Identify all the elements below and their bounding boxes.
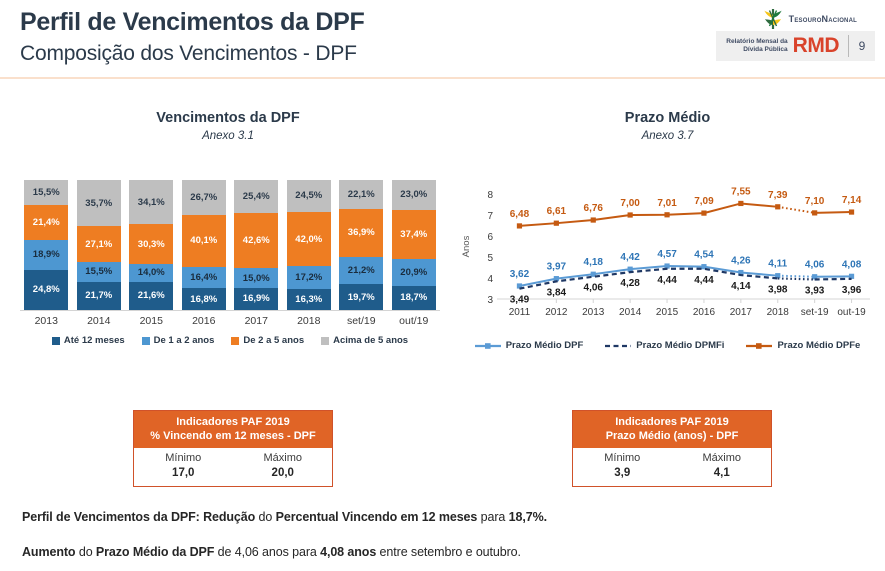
bar-x-tick-2014: 2014 xyxy=(73,315,125,327)
line-series-path xyxy=(815,212,852,213)
bar-chart-legend: Até 12 mesesDe 1 a 2 anosDe 2 a 5 anosAc… xyxy=(20,335,440,346)
bar-stack-out-19: 23,0%37,4%20,9%18,7% xyxy=(392,180,436,310)
legend-line-icon xyxy=(475,341,501,351)
line-data-label: 6,48 xyxy=(510,209,530,220)
bar-legend-item[interactable]: Acima de 5 anos xyxy=(321,335,408,346)
bar-stack-2016: 26,7%40,1%16,4%16,8% xyxy=(182,180,226,310)
bar-segment: 16,8% xyxy=(182,288,226,310)
line-data-label: 4,14 xyxy=(731,281,751,292)
footnote2-bold-c: Prazo Médio da DPF xyxy=(96,545,214,559)
line-series-path xyxy=(815,279,852,280)
line-data-label: 7,10 xyxy=(805,196,825,207)
indicator-min-cell: Mínimo 3,9 xyxy=(573,448,672,486)
line-data-label: 4,44 xyxy=(657,275,677,286)
footnote1-bold-c: Percentual Vincendo em 12 meses xyxy=(276,510,478,524)
indicator-max-label: Máximo xyxy=(234,451,333,466)
indicator-min-label: Mínimo xyxy=(134,451,233,466)
indicator-table-body: Mínimo 3,9 Máximo 4,1 xyxy=(573,448,771,486)
bar-legend-item[interactable]: De 2 a 5 anos xyxy=(231,335,304,346)
bar-segment: 15,5% xyxy=(24,180,68,205)
indicator-table-header: Indicadores PAF 2019 Prazo Médio (anos) … xyxy=(573,411,771,448)
indicator-header-line1: Indicadores PAF 2019 xyxy=(136,415,330,429)
line-data-label: 7,09 xyxy=(694,196,714,207)
line-y-axis-label: Anos xyxy=(461,235,472,257)
footnote1-bold-a: Perfil de Vencimentos da DPF: Redução xyxy=(22,510,255,524)
line-chart-legend: Prazo Médio DPFPrazo Médio DPMFiPrazo Mé… xyxy=(455,340,880,351)
footnote-line-1: Perfil de Vencimentos da DPF: Redução do… xyxy=(22,510,547,524)
bar-legend-label: Até 12 meses xyxy=(64,335,125,346)
line-data-marker xyxy=(664,212,669,217)
line-y-tick: 3 xyxy=(487,295,493,306)
bar-segment: 16,3% xyxy=(287,289,331,310)
line-data-marker xyxy=(517,223,522,228)
line-x-tick-2012: 2012 xyxy=(545,307,568,318)
line-data-label: 6,61 xyxy=(547,206,567,217)
bar-segment: 16,4% xyxy=(182,267,226,288)
line-data-label: 4,06 xyxy=(584,283,604,294)
footnote1-text-b: do xyxy=(255,510,275,524)
bar-segment: 22,1% xyxy=(339,180,383,209)
bar-legend-item[interactable]: Até 12 meses xyxy=(52,335,125,346)
line-data-marker xyxy=(849,209,854,214)
line-series-path xyxy=(778,276,815,277)
indicator-max-cell: Máximo 20,0 xyxy=(233,448,333,486)
line-data-marker xyxy=(812,210,817,215)
right-chart-subtitle: Anexo 3.7 xyxy=(455,130,880,142)
bar-chart-x-tick-labels: 201320142015201620172018set/19out/19 xyxy=(20,313,440,331)
legend-swatch-icon xyxy=(321,337,329,345)
line-data-marker xyxy=(775,204,780,209)
line-y-tick: 6 xyxy=(487,232,493,243)
bar-stack-set-19: 22,1%36,9%21,2%19,7% xyxy=(339,180,383,310)
indicator-min-value: 17,0 xyxy=(134,466,233,481)
bar-segment: 15,5% xyxy=(77,262,121,282)
bar-segment: 30,3% xyxy=(129,224,173,263)
line-legend-label: Prazo Médio DPMFi xyxy=(636,340,724,351)
tesouro-emblem-icon xyxy=(760,6,786,32)
bar-x-tick-set-19: set/19 xyxy=(335,315,387,327)
header-divider-rule xyxy=(0,77,885,79)
rmd-badge: Relatório Mensal da Dívida Pública RMD 9 xyxy=(716,31,875,61)
line-series-path xyxy=(778,207,815,213)
bar-segment: 21,2% xyxy=(339,257,383,285)
line-data-label: 4,28 xyxy=(620,278,640,289)
bar-x-tick-2016: 2016 xyxy=(178,315,230,327)
prazo-medio-line-chart: 345678Anos201120122013201420152016201720… xyxy=(455,180,880,365)
line-data-marker xyxy=(738,201,743,206)
rmd-wordmark: RMD xyxy=(793,34,848,58)
bar-segment: 24,5% xyxy=(287,180,331,212)
bar-stack-2014: 35,7%27,1%15,5%21,7% xyxy=(77,180,121,310)
line-data-marker xyxy=(701,211,706,216)
bar-segment: 36,9% xyxy=(339,209,383,257)
line-x-tick-2015: 2015 xyxy=(656,307,679,318)
line-data-label: 3,97 xyxy=(547,262,567,273)
line-legend-label: Prazo Médio DPFe xyxy=(777,340,860,351)
line-data-label: 4,44 xyxy=(694,275,714,286)
bar-x-tick-2018: 2018 xyxy=(283,315,335,327)
line-legend-item[interactable]: Prazo Médio DPFe xyxy=(746,340,860,351)
line-data-label: 4,08 xyxy=(842,259,862,270)
line-data-label: 4,18 xyxy=(584,257,604,268)
footnote2-bold-a: Aumento xyxy=(22,545,75,559)
legend-swatch-icon xyxy=(231,337,239,345)
bar-stack-2015: 34,1%30,3%14,0%21,6% xyxy=(129,180,173,310)
bar-segment: 35,7% xyxy=(77,180,121,226)
line-x-tick-2018: 2018 xyxy=(767,307,790,318)
footnote2-text-f: entre setembro e outubro. xyxy=(376,545,521,559)
bar-segment: 21,7% xyxy=(77,282,121,310)
bar-legend-label: De 2 a 5 anos xyxy=(243,335,304,346)
footnote1-bold-e: 18,7%. xyxy=(509,510,547,524)
bar-segment: 37,4% xyxy=(392,210,436,259)
line-series-path xyxy=(778,278,815,279)
bar-x-tick-2015: 2015 xyxy=(125,315,177,327)
bar-segment: 20,9% xyxy=(392,259,436,286)
line-data-label: 7,00 xyxy=(620,198,640,209)
rmd-caption-line1: Relatório Mensal da xyxy=(726,38,787,46)
legend-swatch-icon xyxy=(52,337,60,345)
line-data-label: 3,84 xyxy=(547,287,567,298)
line-y-tick: 5 xyxy=(487,253,493,264)
footnote-line-2: Aumento do Prazo Médio da DPF de 4,06 an… xyxy=(22,545,521,559)
page-header: Perfil de Vencimentos da DPF Composição … xyxy=(0,0,885,78)
indicator-table-body: Mínimo 17,0 Máximo 20,0 xyxy=(134,448,332,486)
bar-segment: 17,2% xyxy=(287,266,331,288)
bar-segment: 42,0% xyxy=(287,212,331,267)
line-y-tick: 4 xyxy=(487,274,493,285)
bar-segment: 40,1% xyxy=(182,215,226,267)
legend-line-icon xyxy=(746,341,772,351)
line-data-label: 4,54 xyxy=(694,250,714,261)
line-data-label: 3,49 xyxy=(510,295,530,306)
line-legend-label: Prazo Médio DPF xyxy=(506,340,584,351)
bar-x-tick-2017: 2017 xyxy=(230,315,282,327)
indicator-max-cell: Máximo 4,1 xyxy=(672,448,772,486)
bar-segment: 14,0% xyxy=(129,264,173,282)
indicator-table-prazo-medio: Indicadores PAF 2019 Prazo Médio (anos) … xyxy=(572,410,772,487)
bar-legend-item[interactable]: De 1 a 2 anos xyxy=(142,335,215,346)
bar-stack-2017: 25,4%42,6%15,0%16,9% xyxy=(234,180,278,310)
bar-segment: 23,0% xyxy=(392,180,436,210)
line-data-label: 3,62 xyxy=(510,269,530,280)
line-data-label: 3,96 xyxy=(842,285,862,296)
line-data-marker xyxy=(628,212,633,217)
line-data-label: 4,06 xyxy=(805,260,825,271)
indicator-table-percent-vincendo: Indicadores PAF 2019 % Vincendo em 12 me… xyxy=(133,410,333,487)
bar-segment: 18,9% xyxy=(24,240,68,270)
line-x-tick-set-19: set-19 xyxy=(801,307,829,318)
line-data-marker xyxy=(591,217,596,222)
bar-segment: 21,4% xyxy=(24,205,68,240)
bar-stack-2018: 24,5%42,0%17,2%16,3% xyxy=(287,180,331,310)
tesouro-nacional-logo: TesouroNacional xyxy=(760,6,857,32)
line-data-label: 3,93 xyxy=(805,285,825,296)
line-data-label: 4,26 xyxy=(731,256,751,267)
line-y-tick: 8 xyxy=(487,190,493,201)
indicator-table-header: Indicadores PAF 2019 % Vincendo em 12 me… xyxy=(134,411,332,448)
vencimentos-dpf-bar-chart: 15,5%21,4%18,9%24,8%35,7%27,1%15,5%21,7%… xyxy=(8,180,448,365)
brand-wordmark: TesouroNacional xyxy=(789,14,857,24)
line-legend-item[interactable]: Prazo Médio DPF xyxy=(475,340,584,351)
line-x-tick-2011: 2011 xyxy=(509,307,531,318)
bar-segment: 18,7% xyxy=(392,286,436,310)
legend-swatch-icon xyxy=(142,337,150,345)
bar-segment: 34,1% xyxy=(129,180,173,224)
bar-segment: 25,4% xyxy=(234,180,278,213)
indicator-max-value: 4,1 xyxy=(673,466,772,481)
bar-x-tick-2013: 2013 xyxy=(20,315,72,327)
right-chart-title: Prazo Médio xyxy=(455,110,880,126)
bar-legend-label: De 1 a 2 anos xyxy=(154,335,215,346)
footnote1-text-d: para xyxy=(477,510,508,524)
indicator-header-line2: Prazo Médio (anos) - DPF xyxy=(575,429,769,443)
indicator-min-label: Mínimo xyxy=(573,451,672,466)
indicator-min-cell: Mínimo 17,0 xyxy=(134,448,233,486)
line-plot-area: 345678Anos201120122013201420152016201720… xyxy=(455,180,880,335)
bar-segment: 16,9% xyxy=(234,288,278,310)
line-x-tick-out-19: out-19 xyxy=(837,307,866,318)
bar-chart-x-axis xyxy=(20,310,440,311)
bar-legend-label: Acima de 5 anos xyxy=(333,335,408,346)
indicator-min-value: 3,9 xyxy=(573,466,672,481)
line-data-label: 7,01 xyxy=(657,198,677,209)
page-subtitle: Composição dos Vencimentos - DPF xyxy=(20,42,357,66)
bar-segment: 26,7% xyxy=(182,180,226,215)
bar-x-tick-out-19: out/19 xyxy=(388,315,440,327)
line-x-tick-2016: 2016 xyxy=(693,307,716,318)
line-data-label: 4,42 xyxy=(620,252,640,263)
rmd-caption-line2: Dívida Pública xyxy=(726,46,787,54)
rmd-badge-caption: Relatório Mensal da Dívida Pública xyxy=(726,38,792,54)
line-data-label: 4,57 xyxy=(657,249,677,260)
page-title: Perfil de Vencimentos da DPF xyxy=(20,8,364,37)
line-legend-item[interactable]: Prazo Médio DPMFi xyxy=(605,340,724,351)
indicator-header-line2: % Vincendo em 12 meses - DPF xyxy=(136,429,330,443)
bar-segment: 42,6% xyxy=(234,213,278,268)
line-y-tick: 7 xyxy=(487,211,493,222)
line-data-marker xyxy=(554,221,559,226)
line-data-label: 6,76 xyxy=(584,203,604,214)
line-data-label: 4,11 xyxy=(768,259,787,270)
bar-segment: 24,8% xyxy=(24,270,68,310)
indicator-header-line1: Indicadores PAF 2019 xyxy=(575,415,769,429)
bar-plot-area: 15,5%21,4%18,9%24,8%35,7%27,1%15,5%21,7%… xyxy=(20,180,440,310)
bar-segment: 27,1% xyxy=(77,226,121,261)
line-data-label: 3,98 xyxy=(768,284,788,295)
line-data-label: 7,55 xyxy=(731,186,751,197)
footnote2-text-b: do xyxy=(75,545,95,559)
bar-segment: 19,7% xyxy=(339,284,383,310)
left-chart-title: Vencimentos da DPF xyxy=(8,110,448,126)
bar-segment: 21,6% xyxy=(129,282,173,310)
indicator-max-label: Máximo xyxy=(673,451,772,466)
indicator-max-value: 20,0 xyxy=(234,466,333,481)
bar-stack-2013: 15,5%21,4%18,9%24,8% xyxy=(24,180,68,310)
left-chart-subtitle: Anexo 3.1 xyxy=(8,130,448,142)
footnote2-text-d: de 4,06 anos para xyxy=(214,545,320,559)
bar-segment: 15,0% xyxy=(234,268,278,288)
line-x-tick-2013: 2013 xyxy=(582,307,605,318)
page-number: 9 xyxy=(849,39,875,53)
footnote2-bold-e: 4,08 anos xyxy=(320,545,376,559)
line-x-tick-2017: 2017 xyxy=(730,307,753,318)
line-data-label: 7,39 xyxy=(768,190,788,201)
line-data-label: 7,14 xyxy=(842,195,862,206)
legend-line-icon xyxy=(605,341,631,351)
line-x-tick-2014: 2014 xyxy=(619,307,642,318)
